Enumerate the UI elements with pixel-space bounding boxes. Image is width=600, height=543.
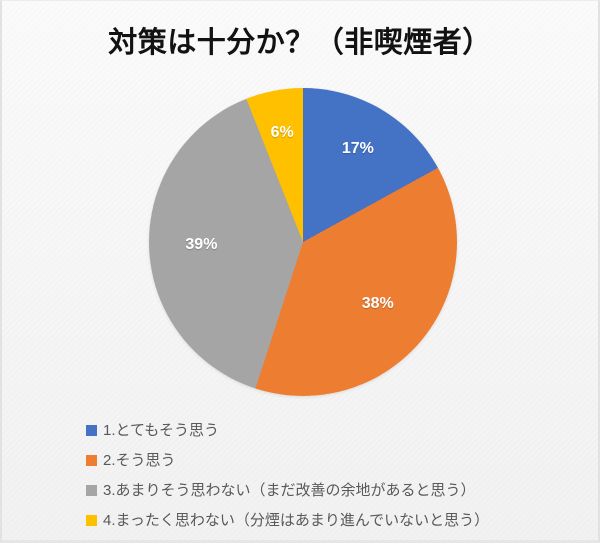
legend-color-swatch [86,485,97,496]
legend-item[interactable]: 1.とてもそう思う [86,415,546,445]
legend-color-swatch [86,425,97,436]
legend-item-label: 4.まったく思わない（分煙はあまり進んでいないと思う） [103,513,489,528]
legend-color-swatch [86,455,97,466]
legend-item[interactable]: 2.そう思う [86,445,546,475]
legend-item[interactable]: 3.あまりそう思わない（まだ改善の余地があると思う） [86,475,546,505]
legend-item-label: 3.あまりそう思わない（まだ改善の余地があると思う） [103,483,476,498]
chart-legend: 1.とてもそう思う2.そう思う3.あまりそう思わない（まだ改善の余地があると思う… [86,415,546,535]
pie-slices [149,88,457,396]
pie-chart-card: 対策は十分か？（非喫煙者） 17%38%39%6% 1.とてもそう思う2.そう思… [0,0,600,543]
legend-item-label: 1.とてもそう思う [103,423,219,438]
legend-item[interactable]: 4.まったく思わない（分煙はあまり進んでいないと思う） [86,505,546,535]
legend-item-label: 2.そう思う [103,453,176,468]
legend-color-swatch [86,515,97,526]
page-title: 対策は十分か？（非喫煙者） [2,19,598,61]
pie-chart: 17%38%39%6% [149,88,457,396]
